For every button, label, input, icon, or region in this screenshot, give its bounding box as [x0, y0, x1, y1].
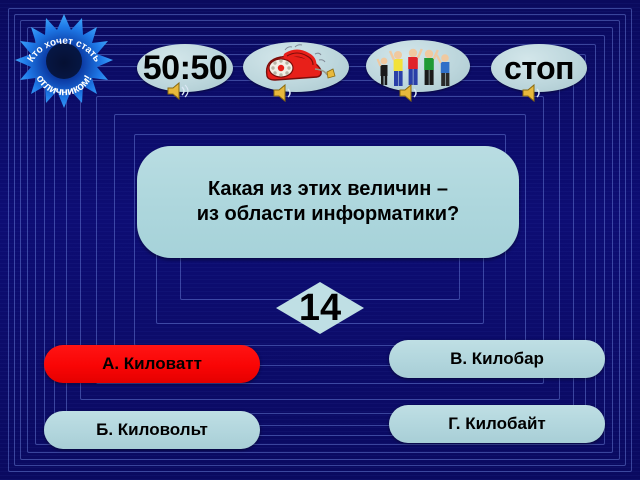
- question-panel: Какая из этих величин – из области инфор…: [137, 146, 519, 258]
- question-number-badge: 14: [276, 282, 364, 334]
- question-line-1: Какая из этих величин –: [208, 177, 448, 202]
- answer-option-b[interactable]: В. Килобар: [389, 340, 605, 378]
- speaker-icon[interactable]: [398, 82, 424, 104]
- speaker-icon[interactable]: [272, 82, 298, 104]
- answer-option-a-label: А. Киловатт: [102, 354, 202, 374]
- answer-option-v[interactable]: Б. Киловольт: [44, 411, 260, 449]
- answer-option-g-label: Г. Килобайт: [448, 414, 545, 434]
- answer-option-v-label: Б. Киловольт: [96, 420, 208, 440]
- question-number-value: 14: [276, 282, 364, 334]
- answer-option-a[interactable]: А. Киловатт: [44, 345, 260, 383]
- answer-option-b-label: В. Килобар: [450, 349, 544, 369]
- speaker-icon[interactable]: [166, 80, 192, 102]
- speaker-icon[interactable]: [521, 82, 547, 104]
- question-line-2: из области информатики?: [197, 202, 460, 227]
- answer-option-g[interactable]: Г. Килобайт: [389, 405, 605, 443]
- lifeline-stop-label: стоп: [504, 52, 574, 84]
- show-logo: Кто хочет стать отличником!: [14, 12, 114, 110]
- quiz-slide: Кто хочет стать отличником! 50:50: [0, 0, 640, 480]
